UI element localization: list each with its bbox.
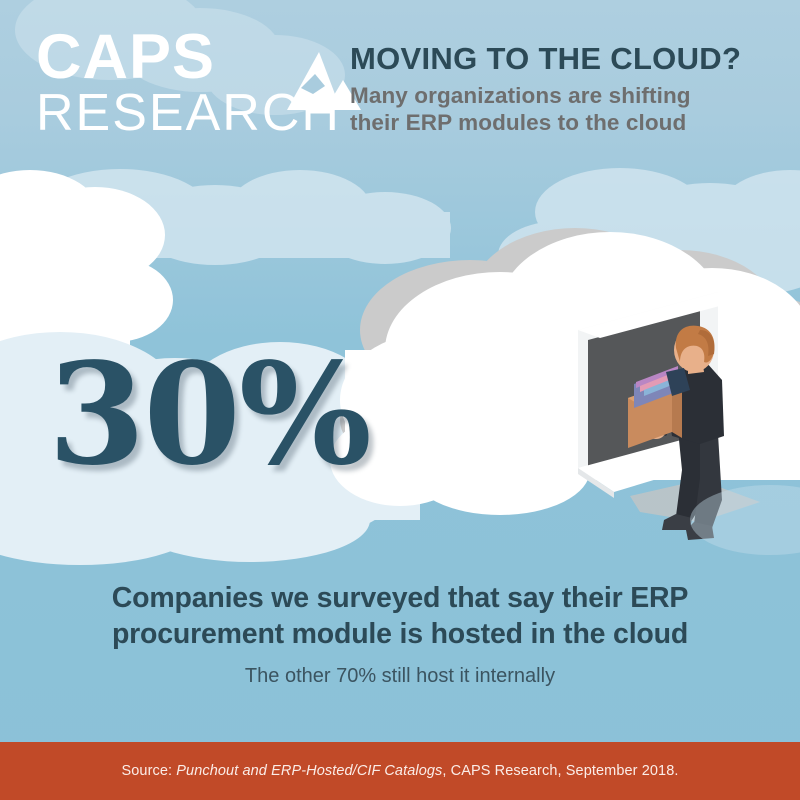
source-footer: Source: Punchout and ERP-Hosted/CIF Cata… [0,742,800,800]
page-subtitle: Many organizations are shifting their ER… [350,82,770,136]
source-suffix: , CAPS Research, September 2018. [442,763,678,779]
brand-logo: CAPS RESEARCH [36,28,346,153]
infographic-poster: CAPS RESEARCH MOVING TO THE CLOUD? Many … [0,0,800,800]
body-line-2: procurement module is hosted in the clou… [50,616,750,652]
page-title: MOVING TO THE CLOUD? [350,42,770,76]
body-line-1: Companies we surveyed that say their ERP [50,580,750,616]
stat-value: 30% [48,345,370,485]
mountain-peaks-icon [241,48,361,118]
subtitle-line-2: their ERP modules to the cloud [350,110,686,135]
source-title: Punchout and ERP-Hosted/CIF Catalogs [176,763,442,779]
header-text-block: MOVING TO THE CLOUD? Many organizations … [350,42,770,136]
source-text: Source: Punchout and ERP-Hosted/CIF Cata… [121,763,678,779]
body-text-block: Companies we surveyed that say their ERP… [0,580,800,688]
body-note: The other 70% still host it internally [50,664,750,688]
source-prefix: Source: [121,763,176,779]
subtitle-line-1: Many organizations are shifting [350,83,691,108]
